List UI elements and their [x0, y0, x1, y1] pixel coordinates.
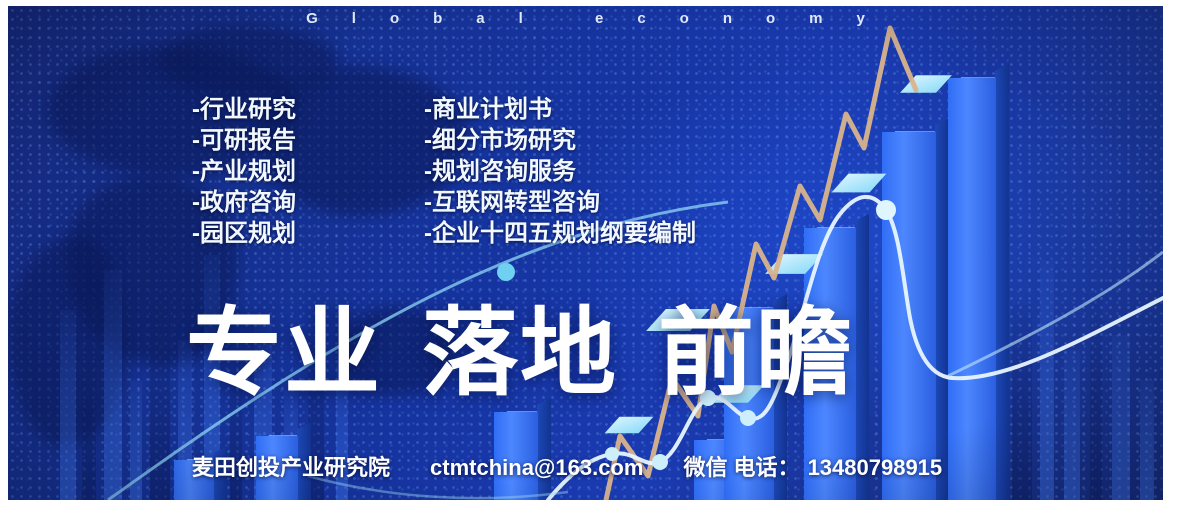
chart-bar-face [948, 78, 996, 500]
headline: 专业落地前瞻 [186, 302, 854, 406]
service-item: -互联网转型咨询 [424, 187, 696, 218]
services-right-column: -商业计划书 -细分市场研究 -规划咨询服务 -互联网转型咨询 -企业十四五规划… [424, 94, 696, 249]
ambient-strip [1064, 350, 1080, 500]
chart-bar-face [882, 132, 936, 500]
service-item: -政府咨询 [192, 187, 296, 218]
footer-contact-bar: 麦田创投产业研究院ctmtchina@163.com微信 电话：13480798… [192, 450, 942, 482]
service-item: -商业计划书 [424, 94, 696, 125]
email-address[interactable]: ctmtchina@163.com [430, 455, 643, 481]
service-item: -产业规划 [192, 156, 296, 187]
diamond-marker [832, 174, 887, 193]
ambient-strip [60, 310, 76, 500]
headline-word-1: 专业 [186, 300, 382, 407]
phone-number: 13480798915 [808, 455, 943, 481]
chart-bar-8 [948, 64, 996, 500]
services-left-column: -行业研究 -可研报告 -产业规划 -政府咨询 -园区规划 [192, 94, 296, 249]
chart-bar-side [935, 118, 949, 500]
service-item: -可研报告 [192, 125, 296, 156]
service-item: -规划咨询服务 [424, 156, 696, 187]
diamond-marker [605, 417, 654, 434]
ambient-strip [1012, 305, 1032, 500]
contact-label: 微信 电话： [683, 450, 799, 482]
promo-banner: Global economy -行业研究 -可研报告 -产业规划 -政府咨询 -… [8, 6, 1163, 500]
chart-bar-side [995, 64, 1009, 500]
continent-shape-north [158, 26, 338, 96]
ambient-strip [1112, 335, 1130, 500]
ambient-strip [104, 270, 122, 500]
chart-bar-7 [882, 118, 936, 500]
ambient-strip [82, 350, 96, 500]
continent-shape-americas [8, 236, 128, 446]
service-item: -企业十四五规划纲要编制 [424, 218, 696, 249]
kicker-text: Global economy [8, 10, 1163, 27]
service-item: -行业研究 [192, 94, 296, 125]
ambient-strip [1040, 260, 1054, 500]
ambient-strip [1090, 295, 1102, 500]
headline-word-3: 前瞻 [658, 300, 854, 407]
company-name: 麦田创投产业研究院 [192, 450, 390, 482]
service-item: -细分市场研究 [424, 125, 696, 156]
arc-point-marker [497, 263, 515, 281]
ambient-strip [130, 380, 142, 500]
ambient-strip [1140, 380, 1154, 500]
headline-word-2: 落地 [422, 300, 618, 407]
ambient-strip [150, 300, 170, 500]
chart-bar-3 [494, 398, 538, 500]
service-item: -园区规划 [192, 218, 296, 249]
diamond-marker [900, 75, 952, 93]
